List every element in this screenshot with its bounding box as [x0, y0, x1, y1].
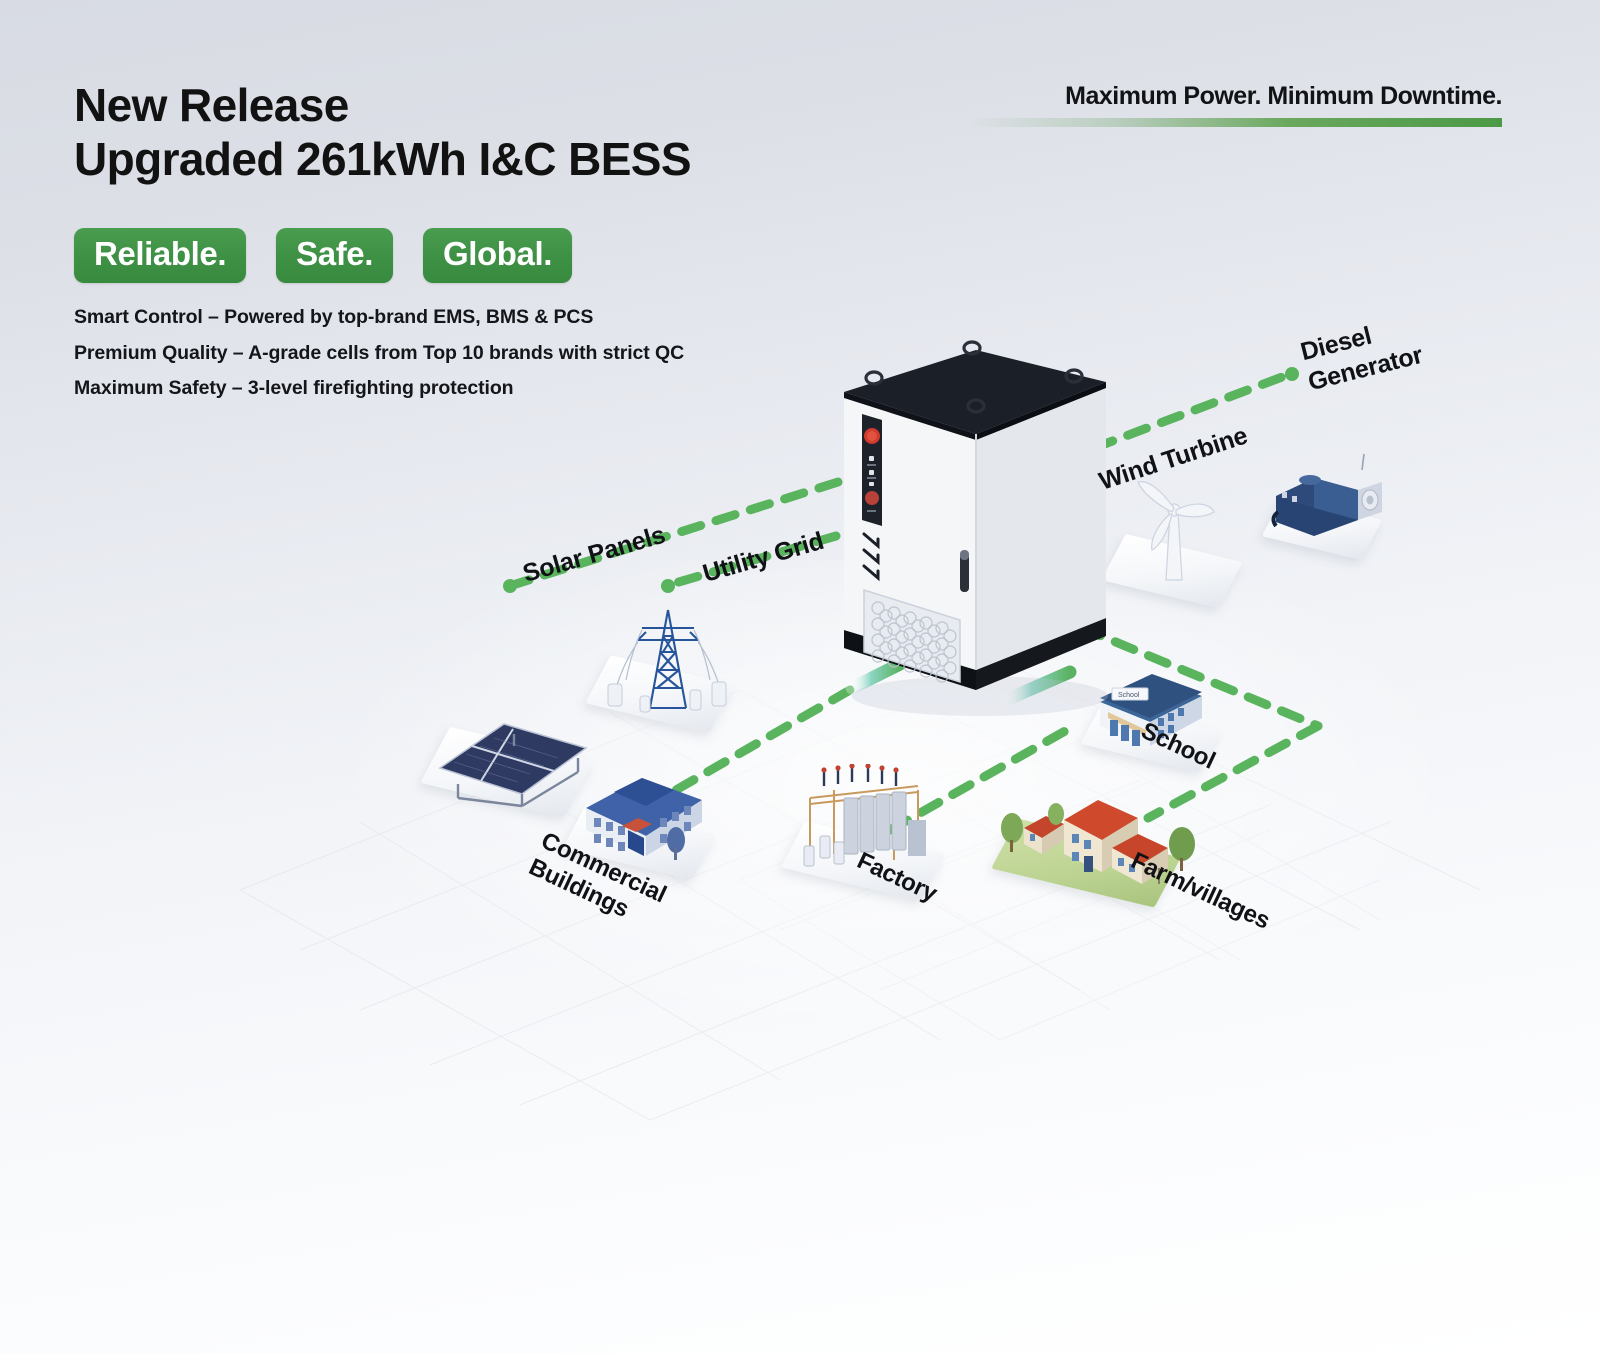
headline-line-1: New Release [74, 78, 834, 132]
badge-global[interactable]: Global. [423, 228, 572, 283]
badge-reliable[interactable]: Reliable. [74, 228, 246, 283]
feature-item-maximum-safety: Maximum Safety – 3-level firefighting pr… [74, 379, 684, 399]
label-diesel-generator: Diesel Generator [1298, 312, 1424, 392]
badge-safe[interactable]: Safe. [276, 228, 393, 283]
transmission-tower-asset [580, 596, 756, 732]
school-sign-text: School [1118, 692, 1140, 699]
wind-turbine-asset [1098, 470, 1258, 606]
feature-list: Smart Control – Powered by top-brand EMS… [74, 308, 684, 415]
tagline-underline-bar [967, 118, 1502, 127]
feature-item-premium-quality: Premium Quality – A-grade cells from Top… [74, 344, 684, 364]
poster-stage: School [0, 0, 1600, 1354]
feature-item-smart-control: Smart Control – Powered by top-brand EMS… [74, 308, 684, 328]
tagline-text: Maximum Power. Minimum Downtime. [967, 82, 1502, 111]
headline-line-2: Upgraded 261kWh I&C BESS [74, 132, 834, 186]
diesel-generator-asset [1262, 452, 1392, 562]
tagline-block: Maximum Power. Minimum Downtime. [967, 82, 1502, 127]
headline-block: New Release Upgraded 261kWh I&C BESS [74, 78, 834, 187]
badge-row: Reliable. Safe. Global. [74, 228, 572, 283]
battery-energy-storage-cabinet [820, 318, 1110, 718]
